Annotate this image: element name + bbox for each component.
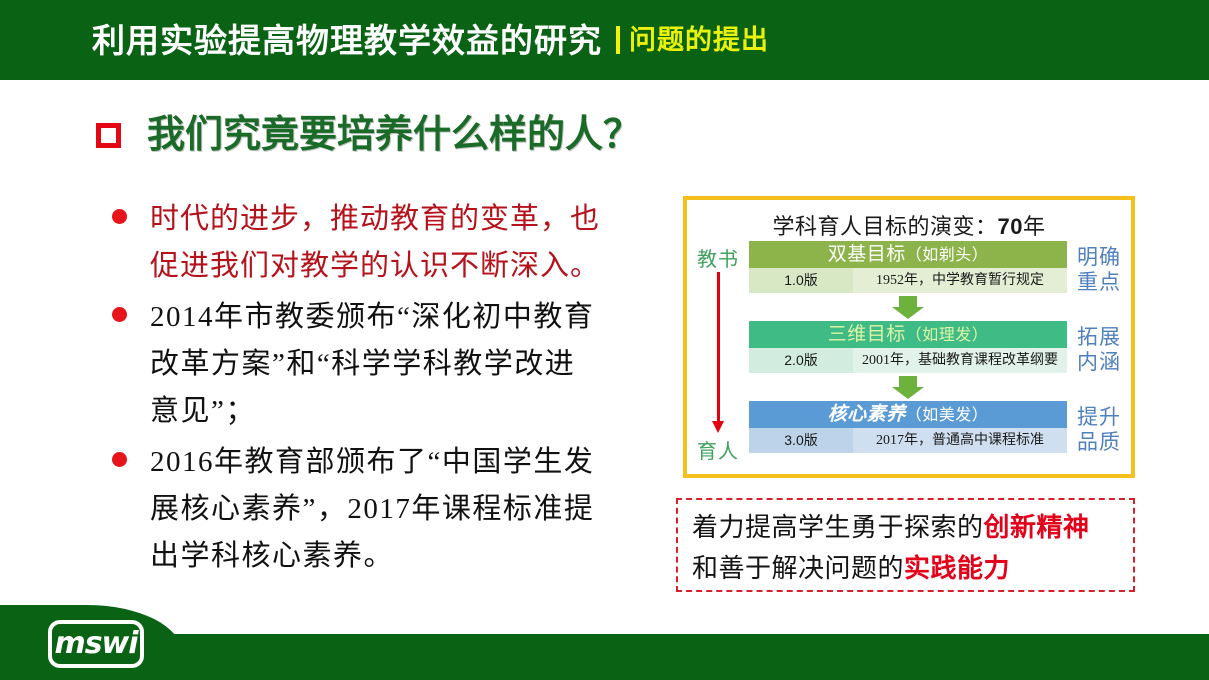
row-description: 1952年，中学教育暂行规定 xyxy=(853,268,1067,293)
row-header-main: 核心素养 xyxy=(828,404,906,425)
list-item: 2016年教育部颁布了“中国学生发 展核心素养”，2017年课程标准提 出学科核… xyxy=(112,439,672,580)
bullet-line: 2014年市教委颁布“深化初中教育 xyxy=(150,294,594,341)
diagram-title-prefix: 学科育人目标的演变： xyxy=(772,214,997,239)
heading-text: 我们究竟要培养什么样的人？ xyxy=(147,116,641,154)
list-item: 2014年市教委颁布“深化初中教育 改革方案”和“科学学科教学改进 意见”； xyxy=(112,294,672,435)
row-header-main: 三维目标 xyxy=(828,324,906,345)
note-plain-text: 和善于解决问题的 xyxy=(692,554,904,583)
row-subrow: 3.0版 2017年，普通高中课程标准 xyxy=(749,428,1067,453)
side-label-3: 提升 品质 xyxy=(1069,405,1129,455)
bullet-dot-icon xyxy=(112,452,127,467)
lane-label-teaching: 教书 xyxy=(687,243,749,272)
row-header: 双基目标（如剃头） xyxy=(749,241,1067,268)
diagram-row-1: 双基目标（如剃头） 1.0版 1952年，中学教育暂行规定 xyxy=(749,241,1067,293)
row-subrow: 2.0版 2001年，基础教育课程改革纲要 xyxy=(749,348,1067,373)
bullet-line: 时代的进步，推动教育的变革，也 xyxy=(150,196,600,243)
bullet-line: 改革方案”和“科学学科教学改进 xyxy=(150,341,594,388)
row-header-note: （如美发） xyxy=(906,407,989,424)
diagram-left-lane: 教书 育人 xyxy=(687,241,749,466)
diagram-body: 教书 育人 双基目标（如剃头） 1.0版 1952年，中学教育暂行规定 xyxy=(687,241,1131,466)
lane-label-nurturing: 育人 xyxy=(687,435,749,464)
row-version: 2.0版 xyxy=(749,348,853,373)
note-highlight-text: 创新精神 xyxy=(984,512,1090,542)
row-header: 核心素养（如美发） xyxy=(749,401,1067,428)
row-header-note: （如理发） xyxy=(906,327,989,344)
diagram-row-2: 三维目标（如理发） 2.0版 2001年，基础教育课程改革纲要 xyxy=(749,321,1067,373)
row-subrow: 1.0版 1952年，中学教育暂行规定 xyxy=(749,268,1067,293)
mswi-logo: mswi xyxy=(48,620,144,668)
note-highlight-text: 实践能力 xyxy=(904,553,1010,583)
side-label-line: 提升 xyxy=(1069,405,1129,430)
bullet-line: 2016年教育部颁布了“中国学生发 xyxy=(150,439,594,486)
evolution-diagram-panel: 学科育人目标的演变：70年 教书 育人 双基目标（如剃头） 1.0版 1952年… xyxy=(683,196,1135,478)
row-header: 三维目标（如理发） xyxy=(749,321,1067,348)
row-description: 2001年，基础教育课程改革纲要 xyxy=(853,348,1067,373)
bullet-dot-icon xyxy=(112,209,127,224)
row-version: 3.0版 xyxy=(749,428,853,453)
row-header-main: 双基目标 xyxy=(828,244,906,265)
header-bar: 利用实验提高物理教学效益的研究 问题的提出 xyxy=(0,0,1209,80)
slide-header-title: 利用实验提高物理教学效益的研究 xyxy=(92,24,602,57)
green-down-arrow-icon xyxy=(892,296,924,318)
bullet-line: 展核心素养”，2017年课程标准提 xyxy=(150,486,594,533)
header-divider xyxy=(616,26,620,54)
header-content: 利用实验提高物理教学效益的研究 问题的提出 xyxy=(92,0,769,80)
diagram-row-3: 核心素养（如美发） 3.0版 2017年，普通高中课程标准 xyxy=(749,401,1067,453)
down-arrow-icon xyxy=(717,272,720,422)
bullet-text: 2014年市教委颁布“深化初中教育 改革方案”和“科学学科教学改进 意见”； xyxy=(150,294,594,435)
square-bullet-icon xyxy=(96,123,121,148)
bullet-text: 2016年教育部颁布了“中国学生发 展核心素养”，2017年课程标准提 出学科核… xyxy=(150,439,594,580)
side-label-line: 内涵 xyxy=(1069,350,1129,375)
bullet-line: 促进我们对教学的认识不断深入。 xyxy=(150,243,600,290)
bullet-dot-icon xyxy=(112,307,127,322)
bullet-line: 意见”； xyxy=(150,388,594,435)
page-title: 我们究竟要培养什么样的人？ xyxy=(96,116,641,154)
list-item: 时代的进步，推动教育的变革，也 促进我们对教学的认识不断深入。 xyxy=(112,196,672,290)
side-label-line: 拓展 xyxy=(1069,325,1129,350)
diagram-title: 学科育人目标的演变：70年 xyxy=(687,200,1131,241)
side-label-line: 重点 xyxy=(1069,270,1129,295)
bullet-text: 时代的进步，推动教育的变革，也 促进我们对教学的认识不断深入。 xyxy=(150,196,600,290)
bullet-line: 出学科核心素养。 xyxy=(150,533,594,580)
row-header-note: （如剃头） xyxy=(906,247,989,264)
note-plain-text: 着力提高学生勇于探索的 xyxy=(692,513,984,542)
row-description: 2017年，普通高中课程标准 xyxy=(853,428,1067,453)
green-down-arrow-icon xyxy=(892,376,924,398)
side-label-1: 明确 重点 xyxy=(1069,245,1129,295)
side-label-2: 拓展 内涵 xyxy=(1069,325,1129,375)
note-line-1: 着力提高学生勇于探索的创新精神 xyxy=(692,507,1123,548)
diagram-rows: 双基目标（如剃头） 1.0版 1952年，中学教育暂行规定 三维目标（如理发） … xyxy=(749,241,1067,466)
slide-header-subtitle: 问题的提出 xyxy=(629,27,769,54)
side-label-line: 品质 xyxy=(1069,430,1129,455)
row-version: 1.0版 xyxy=(749,268,853,293)
callout-note-box: 着力提高学生勇于探索的创新精神 和善于解决问题的实践能力 xyxy=(676,498,1135,592)
note-line-2: 和善于解决问题的实践能力 xyxy=(692,548,1123,589)
diagram-right-lane: 明确 重点 拓展 内涵 提升 品质 xyxy=(1067,241,1131,466)
diagram-title-suffix: 年 xyxy=(1023,214,1046,239)
diagram-title-number: 70 xyxy=(998,214,1023,239)
bullet-list: 时代的进步，推动教育的变革，也 促进我们对教学的认识不断深入。 2014年市教委… xyxy=(112,196,672,584)
side-label-line: 明确 xyxy=(1069,245,1129,270)
slide-canvas: 利用实验提高物理教学效益的研究 问题的提出 我们究竟要培养什么样的人？ 时代的进… xyxy=(0,0,1209,680)
